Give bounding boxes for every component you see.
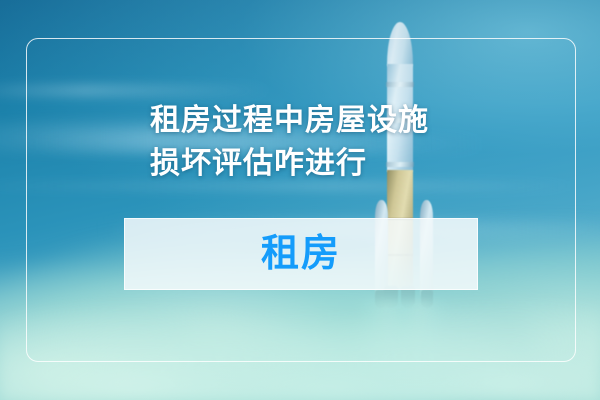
- poster-content: 租房过程中房屋设施 损坏评估咋进行 租房: [0, 0, 600, 400]
- poster-title-line-2: 损坏评估咋进行: [150, 143, 470, 186]
- poster-title: 租房过程中房屋设施 损坏评估咋进行: [150, 100, 470, 185]
- category-tag-bar: 租房: [124, 218, 478, 290]
- poster-title-line-1: 租房过程中房屋设施: [150, 100, 470, 143]
- category-tag-label: 租房: [261, 235, 341, 273]
- poster-card: 租房过程中房屋设施 损坏评估咋进行 租房: [0, 0, 600, 400]
